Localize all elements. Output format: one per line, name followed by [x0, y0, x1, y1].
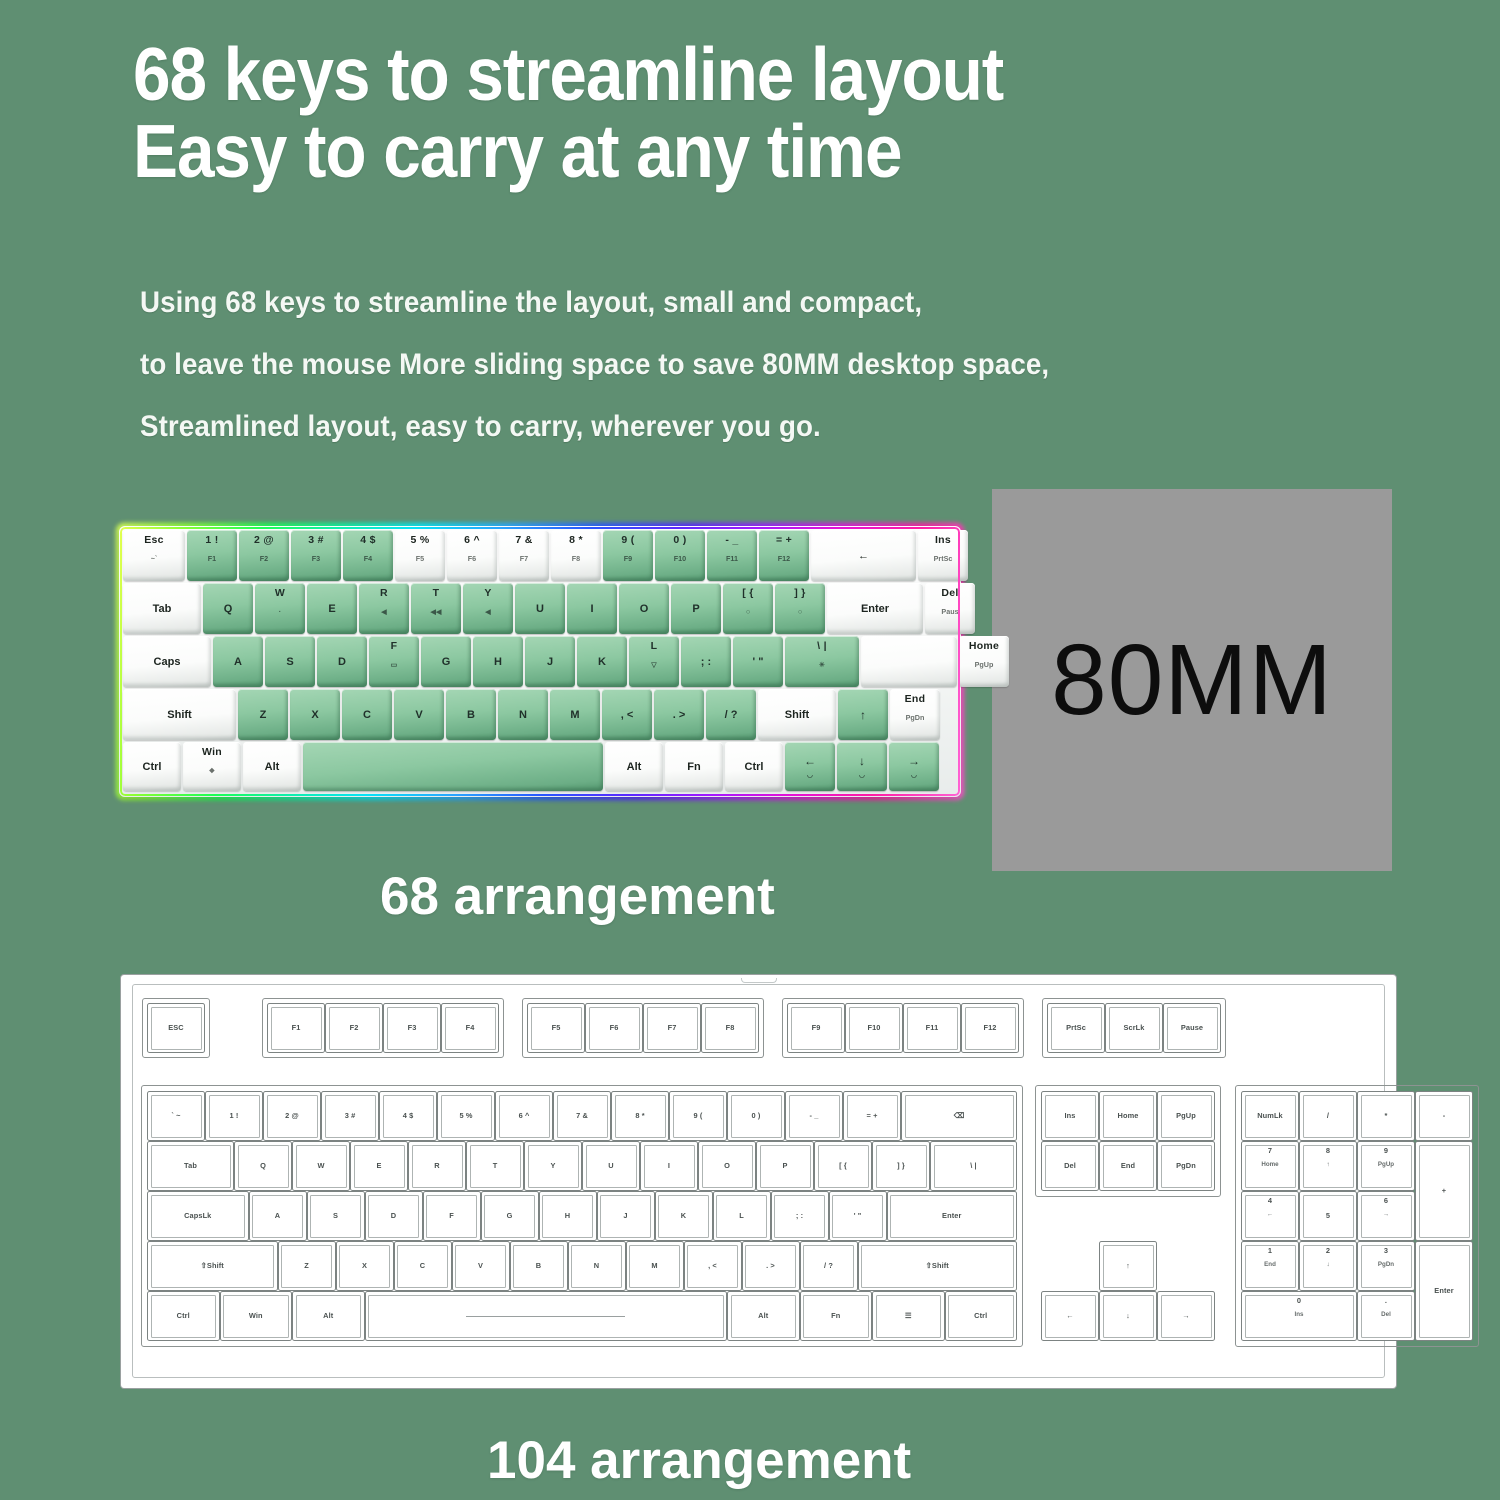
- lk-num-2[interactable]: 2 @: [263, 1091, 321, 1141]
- key-sublegend: ▭: [391, 660, 398, 669]
- lk-legend: Y: [550, 1162, 555, 1170]
- key-end[interactable]: EndPgDn: [890, 689, 940, 740]
- key-sublegend: PgDn: [906, 713, 925, 722]
- key-legend: R: [380, 588, 388, 599]
- lk-as-11[interactable]: ' ": [829, 1191, 887, 1241]
- key-q[interactable]: Q: [203, 583, 253, 634]
- lk-zx-10[interactable]: / ?: [800, 1241, 858, 1291]
- key-legend: X: [311, 709, 318, 721]
- lk-qw-7[interactable]: U: [582, 1141, 640, 1191]
- lk-legend: Fn: [831, 1312, 840, 1320]
- lk-legend: O: [724, 1162, 730, 1170]
- key-c[interactable]: C: [342, 689, 392, 740]
- key-a[interactable]: A: [213, 636, 263, 687]
- lk-legend: 6: [1384, 1197, 1388, 1205]
- lk-qw-13[interactable]: \ |: [930, 1141, 1017, 1191]
- key-legend: Enter: [861, 603, 889, 615]
- key-d[interactable]: D: [317, 636, 367, 687]
- lk-np-12[interactable]: 2↓: [1299, 1241, 1357, 1291]
- key-n[interactable]: N: [498, 689, 548, 740]
- key-i[interactable]: I: [567, 583, 617, 634]
- lk-legend: F10: [867, 1024, 880, 1032]
- lk-zx-2[interactable]: X: [336, 1241, 394, 1291]
- keyboard-68-keys: Esc~`1 !F12 @F23 #F34 $F45 %F56 ^F67 &F7…: [123, 530, 957, 791]
- lk-bt-1[interactable]: Win: [220, 1291, 293, 1341]
- measurement-label: 80MM: [1051, 623, 1333, 738]
- lk-np-0[interactable]: NumLk: [1241, 1091, 1299, 1141]
- lk-legend: →: [1182, 1312, 1190, 1320]
- lk-legend: G: [507, 1212, 513, 1220]
- lk-num-10[interactable]: 0 ): [727, 1091, 785, 1141]
- lk-np-8[interactable]: 4←: [1241, 1191, 1299, 1241]
- lk-sublegend: Del: [1381, 1311, 1391, 1318]
- key-legend: →: [908, 754, 920, 768]
- key-4-[interactable]: 4 $F4: [343, 530, 393, 581]
- keyboard-68-row-2: TabQW·ER◀T◀◀Y◀UIOP[ {○] }○EnterDelPaus: [123, 583, 957, 634]
- lk-bt-4[interactable]: Alt: [727, 1291, 800, 1341]
- lk-as-3[interactable]: D: [365, 1191, 423, 1241]
- lk-legend: 1 !: [230, 1112, 239, 1120]
- lk-sublegend: Home: [1261, 1161, 1278, 1168]
- key-legend: U: [536, 603, 544, 615]
- lk-qw-2[interactable]: W: [292, 1141, 350, 1191]
- lk-as-7[interactable]: J: [597, 1191, 655, 1241]
- lk-f3[interactable]: F3: [383, 1003, 441, 1053]
- key--[interactable]: \ |☀: [785, 636, 859, 687]
- lk-num-13[interactable]: ⌫: [901, 1091, 1017, 1141]
- key--[interactable]: = +F12: [759, 530, 809, 581]
- key-blank[interactable]: [303, 742, 603, 791]
- key-t[interactable]: T◀◀: [411, 583, 461, 634]
- lk-as-5[interactable]: G: [481, 1191, 539, 1241]
- lk-legend: ⇧Shift: [201, 1262, 224, 1270]
- lk-qw-1[interactable]: Q: [234, 1141, 292, 1191]
- key-0-[interactable]: 0 )F10: [655, 530, 705, 581]
- key-legend: Q: [224, 603, 233, 615]
- key-legend: 8 *: [569, 535, 583, 546]
- body-line-2: to leave the mouse More sliding space to…: [140, 334, 1193, 396]
- lk-pause[interactable]: Pause: [1163, 1003, 1221, 1053]
- key-legend: = +: [776, 535, 792, 546]
- caption-104-arrangement: 104 arrangement: [487, 1430, 911, 1491]
- lk-f6[interactable]: F6: [585, 1003, 643, 1053]
- key--[interactable]: ] }○: [775, 583, 825, 634]
- lk-num-5[interactable]: 5 %: [437, 1091, 495, 1141]
- key-legend: ↑: [860, 708, 866, 722]
- lk-np-9[interactable]: 5: [1299, 1191, 1357, 1241]
- key-blank[interactable]: ↓◡: [837, 742, 887, 791]
- lk-legend: Enter: [942, 1212, 961, 1220]
- lk-np-14[interactable]: Enter: [1415, 1241, 1473, 1341]
- lk-qw-10[interactable]: P: [756, 1141, 814, 1191]
- lk-legend: Ins: [1065, 1112, 1076, 1120]
- key-7-[interactable]: 7 &F7: [499, 530, 549, 581]
- key--[interactable]: ' ": [733, 636, 783, 687]
- key-legend: End: [905, 694, 926, 705]
- lk-f10[interactable]: F10: [845, 1003, 903, 1053]
- key-z[interactable]: Z: [238, 689, 288, 740]
- lk-legend: F4: [466, 1024, 475, 1032]
- key-g[interactable]: G: [421, 636, 471, 687]
- lk-arrow-up[interactable]: ↑: [1099, 1241, 1157, 1291]
- lk-f7[interactable]: F7: [643, 1003, 701, 1053]
- key-j[interactable]: J: [525, 636, 575, 687]
- key-legend: N: [519, 709, 527, 721]
- lk-f5[interactable]: F5: [527, 1003, 585, 1053]
- lk-num-8[interactable]: 8 *: [611, 1091, 669, 1141]
- key-enter[interactable]: Enter: [827, 583, 923, 634]
- lk-as-4[interactable]: F: [423, 1191, 481, 1241]
- lk-as-2[interactable]: S: [307, 1191, 365, 1241]
- lk-legend: F1: [292, 1024, 301, 1032]
- lk-legend: ` ~: [171, 1112, 180, 1120]
- key-sublegend: ·: [279, 607, 281, 616]
- lk-zx-8[interactable]: , <: [684, 1241, 742, 1291]
- lk-arrow-left[interactable]: ←: [1041, 1291, 1099, 1341]
- lk-legend: K: [681, 1212, 686, 1220]
- lk-legend: B: [536, 1262, 541, 1270]
- lk-legend: P: [782, 1162, 787, 1170]
- key-win[interactable]: Win❖: [183, 742, 241, 791]
- key-blank[interactable]: →◡: [889, 742, 939, 791]
- key-sublegend: F10: [674, 554, 686, 563]
- key-legend: Alt: [265, 761, 280, 773]
- key-ctrl[interactable]: Ctrl: [123, 742, 181, 791]
- key-legend: F: [391, 641, 398, 652]
- key-legend: - _: [725, 535, 738, 546]
- key-legend: E: [328, 603, 335, 615]
- lk-bt-5[interactable]: Fn: [800, 1291, 873, 1341]
- lk-qw-8[interactable]: I: [640, 1141, 698, 1191]
- keyboard-104-illustration: ESCF1F2F3F4F5F6F7F8F9F10F11F12PrtScScrLk…: [120, 974, 1397, 1389]
- lk-f12[interactable]: F12: [961, 1003, 1019, 1053]
- keyboard-68-row-4: ShiftZXCVBNM, <. >/ ?Shift↑EndPgDn: [123, 689, 957, 740]
- lk-legend: 2 @: [285, 1112, 299, 1120]
- lk-zx-4[interactable]: V: [452, 1241, 510, 1291]
- lk-ins[interactable]: Ins: [1041, 1091, 1099, 1141]
- key-legend: 2 @: [254, 535, 274, 546]
- lk-legend: \ |: [970, 1162, 976, 1170]
- key-blank[interactable]: ↑: [838, 689, 888, 740]
- lk-as-12[interactable]: Enter: [887, 1191, 1018, 1241]
- lk-np-2[interactable]: *: [1357, 1091, 1415, 1141]
- key--[interactable]: . >: [654, 689, 704, 740]
- keyboard-68-row-3: CapsASDF▭GHJKL▽; :' "\ |☀HomePgUp: [123, 636, 957, 687]
- key-u[interactable]: U: [515, 583, 565, 634]
- lk-f11[interactable]: F11: [903, 1003, 961, 1053]
- lk-legend: 3: [1384, 1247, 1388, 1255]
- lk-end[interactable]: End: [1099, 1141, 1157, 1191]
- lk-sublegend: Ins: [1295, 1311, 1304, 1318]
- key-ins[interactable]: InsPrtSc: [918, 530, 968, 581]
- lk-legend: ↑: [1126, 1262, 1130, 1270]
- key-sublegend: ◡: [807, 770, 813, 779]
- lk-legend: 5: [1326, 1212, 1330, 1220]
- lk-legend: ☰: [905, 1312, 912, 1320]
- key-sublegend: PgUp: [975, 660, 994, 669]
- lk-np-15[interactable]: 0Ins: [1241, 1291, 1357, 1341]
- key-legend: 7 &: [515, 535, 532, 546]
- lk-as-10[interactable]: ; :: [771, 1191, 829, 1241]
- key-fn[interactable]: Fn: [665, 742, 723, 791]
- key-legend: P: [692, 603, 699, 615]
- key-5-[interactable]: 5 %F5: [395, 530, 445, 581]
- key-sublegend: ○: [798, 607, 802, 616]
- lk-legend: End: [1121, 1162, 1135, 1170]
- key-s[interactable]: S: [265, 636, 315, 687]
- lk-bt-6[interactable]: ☰: [872, 1291, 945, 1341]
- lk-arrow-right[interactable]: →: [1157, 1291, 1215, 1341]
- lk-legend: 7: [1268, 1147, 1272, 1155]
- lk-legend: ⌫: [954, 1112, 965, 1120]
- key-p[interactable]: P: [671, 583, 721, 634]
- lk-np-11[interactable]: 1End: [1241, 1241, 1299, 1291]
- lk-zx-1[interactable]: Z: [278, 1241, 336, 1291]
- key-r[interactable]: R◀: [359, 583, 409, 634]
- lk-f2[interactable]: F2: [325, 1003, 383, 1053]
- lk-num-7[interactable]: 7 &: [553, 1091, 611, 1141]
- lk-zx-9[interactable]: . >: [742, 1241, 800, 1291]
- key-blank[interactable]: ←◡: [785, 742, 835, 791]
- lk-home[interactable]: Home: [1099, 1091, 1157, 1141]
- lk-legend: D: [391, 1212, 396, 1220]
- key-k[interactable]: K: [577, 636, 627, 687]
- lk-arrow-down[interactable]: ↓: [1099, 1291, 1157, 1341]
- lk-qw-11[interactable]: [ {: [814, 1141, 872, 1191]
- lk-legend: *: [1385, 1112, 1388, 1120]
- key-8-[interactable]: 8 *F8: [551, 530, 601, 581]
- lk-as-6[interactable]: H: [539, 1191, 597, 1241]
- lk-bt-0[interactable]: Ctrl: [147, 1291, 220, 1341]
- key-legend: / ?: [725, 709, 738, 721]
- space-bar-line: [466, 1316, 625, 1317]
- keyboard-68-illustration: Esc~`1 !F12 @F23 #F34 $F45 %F56 ^F67 &F7…: [119, 526, 961, 797]
- lk-qw-0[interactable]: Tab: [147, 1141, 234, 1191]
- lk-legend: 2: [1326, 1247, 1330, 1255]
- key-legend: ←: [804, 754, 816, 768]
- key-w[interactable]: W·: [255, 583, 305, 634]
- lk-legend: 4: [1268, 1197, 1272, 1205]
- lk-np-3[interactable]: -: [1415, 1091, 1473, 1141]
- key-b[interactable]: B: [446, 689, 496, 740]
- lk-legend: Alt: [323, 1312, 333, 1320]
- lk-qw-4[interactable]: R: [408, 1141, 466, 1191]
- key-y[interactable]: Y◀: [463, 583, 513, 634]
- key-legend: Tab: [153, 603, 172, 615]
- lk-qw-12[interactable]: ] }: [872, 1141, 930, 1191]
- headline-line-1: 68 keys to streamline layout: [133, 36, 1123, 113]
- key-2-[interactable]: 2 @F2: [239, 530, 289, 581]
- key-9-[interactable]: 9 (F9: [603, 530, 653, 581]
- lk-np-7[interactable]: +: [1415, 1141, 1473, 1241]
- lk-np-1[interactable]: /: [1299, 1091, 1357, 1141]
- key-sublegend: F2: [260, 554, 268, 563]
- lk-num-3[interactable]: 3 #: [321, 1091, 379, 1141]
- lk-legend: F12: [983, 1024, 996, 1032]
- lk-zx-6[interactable]: N: [568, 1241, 626, 1291]
- lk-legend: , <: [708, 1262, 717, 1270]
- key-caps[interactable]: Caps: [123, 636, 211, 687]
- key-legend: T: [433, 588, 440, 599]
- lk-zx-11[interactable]: ⇧Shift: [858, 1241, 1018, 1291]
- key-alt[interactable]: Alt: [605, 742, 663, 791]
- key-f[interactable]: F▭: [369, 636, 419, 687]
- lk-bt-2[interactable]: Alt: [292, 1291, 365, 1341]
- lk-legend: ←: [1066, 1312, 1074, 1320]
- key--[interactable]: , <: [602, 689, 652, 740]
- key-3-[interactable]: 3 #F3: [291, 530, 341, 581]
- lk-pgup[interactable]: PgUp: [1157, 1091, 1215, 1141]
- lk-legend: 7 &: [576, 1112, 588, 1120]
- lk-legend: /: [1327, 1112, 1329, 1120]
- lk-legend: C: [420, 1262, 425, 1270]
- lk-legend: J: [623, 1212, 627, 1220]
- lk-as-0[interactable]: CapsLk: [147, 1191, 249, 1241]
- lk-esc[interactable]: ESC: [147, 1003, 205, 1053]
- lk-scrlk[interactable]: ScrLk: [1105, 1003, 1163, 1053]
- key-e[interactable]: E: [307, 583, 357, 634]
- lk-zx-5[interactable]: B: [510, 1241, 568, 1291]
- lk-np-5[interactable]: 8↑: [1299, 1141, 1357, 1191]
- lk-legend: . >: [766, 1262, 775, 1270]
- key--[interactable]: ; :: [681, 636, 731, 687]
- key-sublegend: F4: [364, 554, 372, 563]
- key-6-[interactable]: 6 ^F6: [447, 530, 497, 581]
- lk-legend: I: [668, 1162, 670, 1170]
- lk-zx-0[interactable]: ⇧Shift: [147, 1241, 278, 1291]
- key-h[interactable]: H: [473, 636, 523, 687]
- lk-legend: ScrLk: [1123, 1024, 1144, 1032]
- lk-legend: F7: [668, 1024, 677, 1032]
- key-shift[interactable]: Shift: [123, 689, 236, 740]
- lk-num-1[interactable]: 1 !: [205, 1091, 263, 1141]
- lk-pgdn[interactable]: PgDn: [1157, 1141, 1215, 1191]
- lk-qw-5[interactable]: T: [466, 1141, 524, 1191]
- lk-bt-7[interactable]: Ctrl: [945, 1291, 1018, 1341]
- lk-qw-3[interactable]: E: [350, 1141, 408, 1191]
- lk-f9[interactable]: F9: [787, 1003, 845, 1053]
- lk-as-9[interactable]: L: [713, 1191, 771, 1241]
- key-legend: [ {: [742, 588, 753, 599]
- lk-space[interactable]: [365, 1291, 728, 1341]
- lk-np-6[interactable]: 9PgUp: [1357, 1141, 1415, 1191]
- lk-legend: Tab: [184, 1162, 197, 1170]
- key-legend: Esc: [144, 535, 164, 546]
- lk-prtsc[interactable]: PrtSc: [1047, 1003, 1105, 1053]
- body-copy-block: Using 68 keys to streamline the layout, …: [140, 272, 1260, 458]
- key-legend: I: [590, 603, 593, 615]
- lk-num-11[interactable]: - _: [785, 1091, 843, 1141]
- lk-legend: Alt: [758, 1312, 768, 1320]
- lk-num-9[interactable]: 9 (: [669, 1091, 727, 1141]
- lk-np-4[interactable]: 7Home: [1241, 1141, 1299, 1191]
- key-o[interactable]: O: [619, 583, 669, 634]
- lk-as-8[interactable]: K: [655, 1191, 713, 1241]
- key--[interactable]: [ {○: [723, 583, 773, 634]
- lk-num-6[interactable]: 6 ^: [495, 1091, 553, 1141]
- key-x[interactable]: X: [290, 689, 340, 740]
- lk-legend: - _: [810, 1112, 819, 1120]
- key-sublegend: ◡: [911, 770, 917, 779]
- key-legend: V: [415, 709, 422, 721]
- key-legend: ' ": [753, 656, 764, 668]
- keyboard-top-nub: [741, 978, 777, 983]
- lk-f4[interactable]: F4: [441, 1003, 499, 1053]
- lk-qw-9[interactable]: O: [698, 1141, 756, 1191]
- lk-f1[interactable]: F1: [267, 1003, 325, 1053]
- key-shift[interactable]: Shift: [758, 689, 836, 740]
- key-legend: Y: [484, 588, 491, 599]
- lk-np-10[interactable]: 6→: [1357, 1191, 1415, 1241]
- lk-legend: ESC: [168, 1024, 184, 1032]
- key-legend: ] }: [794, 588, 805, 599]
- lk-legend: Enter: [1434, 1287, 1453, 1295]
- key-sublegend: F9: [624, 554, 632, 563]
- key-blank[interactable]: [861, 636, 957, 687]
- lk-zx-7[interactable]: M: [626, 1241, 684, 1291]
- key-del[interactable]: DelPaus: [925, 583, 975, 634]
- key-legend: Ins: [935, 535, 951, 546]
- lk-legend: Z: [304, 1262, 309, 1270]
- key-m[interactable]: M: [550, 689, 600, 740]
- key-sublegend: ◀◀: [430, 607, 441, 616]
- lk-zx-3[interactable]: C: [394, 1241, 452, 1291]
- key-ctrl[interactable]: Ctrl: [725, 742, 783, 791]
- key-esc[interactable]: Esc~`: [123, 530, 185, 581]
- lk-legend: .: [1385, 1297, 1387, 1305]
- key-alt[interactable]: Alt: [243, 742, 301, 791]
- lk-legend: F6: [610, 1024, 619, 1032]
- lk-num-4[interactable]: 4 $: [379, 1091, 437, 1141]
- lk-as-1[interactable]: A: [249, 1191, 307, 1241]
- lk-legend: N: [594, 1262, 599, 1270]
- key-legend: , <: [621, 709, 634, 721]
- key-legend: ↓: [859, 754, 865, 768]
- lk-num-12[interactable]: = +: [843, 1091, 901, 1141]
- key-legend: 4 $: [360, 535, 376, 546]
- lk-f8[interactable]: F8: [701, 1003, 759, 1053]
- key-1-[interactable]: 1 !F1: [187, 530, 237, 581]
- key-tab[interactable]: Tab: [123, 583, 201, 634]
- key-legend: H: [494, 656, 502, 668]
- key--[interactable]: / ?: [706, 689, 756, 740]
- lk-legend: ] }: [897, 1162, 905, 1170]
- caption-68-arrangement: 68 arrangement: [380, 866, 775, 927]
- key-home[interactable]: HomePgUp: [959, 636, 1009, 687]
- key-legend: D: [338, 656, 346, 668]
- key-l[interactable]: L▽: [629, 636, 679, 687]
- key---[interactable]: - _F11: [707, 530, 757, 581]
- key-sublegend: F1: [208, 554, 216, 563]
- lk-legend: NumLk: [1257, 1112, 1283, 1120]
- lk-sublegend: ↑: [1326, 1161, 1329, 1168]
- lk-qw-6[interactable]: Y: [524, 1141, 582, 1191]
- lk-num-0[interactable]: ` ~: [147, 1091, 205, 1141]
- key-sublegend: F6: [468, 554, 476, 563]
- lk-np-16[interactable]: .Del: [1357, 1291, 1415, 1341]
- lk-del[interactable]: Del: [1041, 1141, 1099, 1191]
- lk-legend: 9 (: [694, 1112, 703, 1120]
- key-legend: 5 %: [411, 535, 430, 546]
- key-legend: Del: [941, 588, 958, 599]
- key-v[interactable]: V: [394, 689, 444, 740]
- lk-legend: ; :: [796, 1212, 803, 1220]
- key-blank[interactable]: ←: [811, 530, 916, 581]
- lk-np-13[interactable]: 3PgDn: [1357, 1241, 1415, 1291]
- lk-legend: E: [376, 1162, 381, 1170]
- lk-legend: = +: [867, 1112, 878, 1120]
- lk-legend: F5: [552, 1024, 561, 1032]
